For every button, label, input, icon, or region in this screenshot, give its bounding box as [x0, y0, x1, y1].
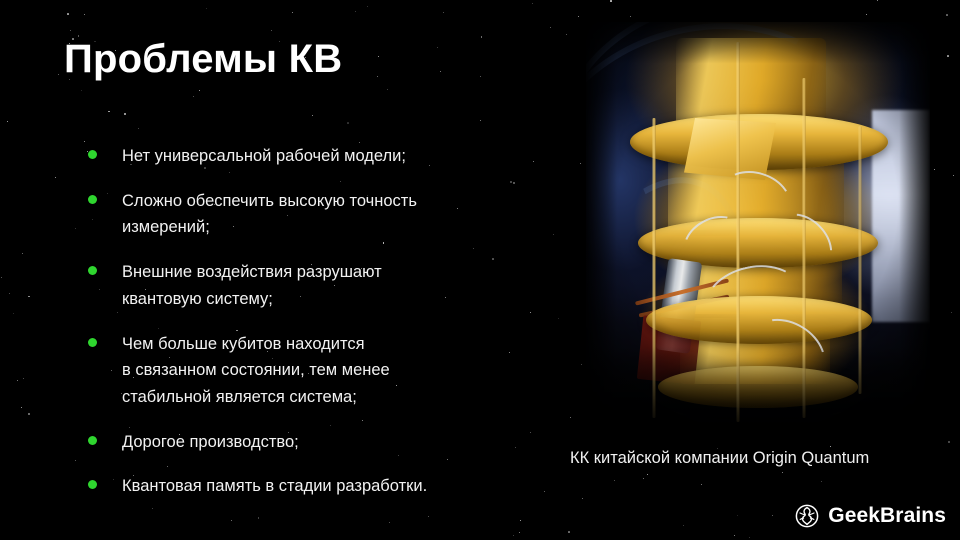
star-dot [28, 296, 30, 298]
star-dot [23, 378, 24, 379]
star-dot [440, 71, 441, 72]
list-item: Внешние воздействия разрушают квантовую … [88, 259, 518, 312]
star-dot [951, 312, 952, 313]
star-dot [75, 228, 76, 229]
star-dot [199, 90, 200, 91]
star-dot [544, 491, 545, 492]
star-dot [582, 498, 583, 499]
star-dot [530, 312, 531, 313]
star-dot [948, 441, 950, 443]
star-dot [206, 8, 207, 9]
star-dot [782, 472, 783, 473]
bullet-dot-icon [88, 480, 97, 489]
list-item: Квантовая память в стадии разработки. [88, 473, 518, 500]
star-dot [312, 115, 314, 117]
star-dot [292, 12, 293, 13]
star-dot [67, 13, 69, 15]
bullet-list: Нет универсальной рабочей модели; Сложно… [88, 143, 518, 518]
star-dot [7, 121, 8, 122]
star-dot [772, 515, 773, 516]
list-item: Чем больше кубитов находится в связанном… [88, 331, 518, 411]
photo-caption: КК китайской компании Origin Quantum [570, 449, 869, 468]
star-dot [84, 141, 85, 142]
star-dot [481, 36, 483, 38]
geekbrains-logo: GeekBrains [795, 504, 946, 528]
star-dot [701, 484, 702, 485]
star-dot [566, 34, 567, 35]
star-dot [734, 535, 735, 536]
star-dot [367, 6, 368, 7]
bullet-text: Внешние воздействия разрушают квантовую … [122, 259, 382, 312]
star-dot [231, 520, 232, 521]
star-dot [520, 520, 521, 521]
star-dot [9, 293, 10, 294]
star-dot [387, 89, 389, 91]
star-dot [138, 128, 139, 129]
star-dot [84, 14, 85, 15]
star-dot [568, 531, 570, 533]
bullet-text: Квантовая память в стадии разработки. [122, 473, 427, 500]
photo-vignette [586, 22, 930, 438]
star-dot [877, 0, 878, 1]
star-dot [581, 364, 582, 365]
star-dot [610, 0, 612, 2]
star-dot [443, 12, 444, 13]
bullet-dot-icon [88, 338, 97, 347]
star-dot [347, 122, 349, 124]
list-item: Дорогое производство; [88, 429, 518, 456]
star-dot [614, 480, 615, 481]
bullet-text: Сложно обеспечить высокую точность измер… [122, 188, 417, 241]
slide-canvas: Проблемы КВ Нет универсальной рабочей мо… [0, 0, 960, 540]
star-dot [946, 14, 948, 16]
star-dot [1, 277, 2, 278]
star-dot [21, 407, 22, 408]
star-dot [108, 111, 110, 113]
star-dot [550, 27, 551, 28]
star-dot [532, 3, 533, 4]
star-dot [934, 169, 935, 170]
list-item: Сложно обеспечить высокую точность измер… [88, 188, 518, 241]
star-dot [81, 90, 82, 91]
list-item: Нет универсальной рабочей модели; [88, 143, 518, 170]
star-dot [271, 30, 272, 31]
bullet-dot-icon [88, 436, 97, 445]
geekbrains-brain-icon [795, 504, 819, 528]
star-dot [480, 120, 481, 121]
quantum-computer-photo [586, 22, 930, 438]
logo-text: GeekBrains [828, 504, 946, 528]
star-dot [953, 175, 954, 176]
star-dot [683, 525, 684, 526]
star-dot [519, 532, 520, 533]
star-dot [75, 460, 76, 461]
star-dot [866, 14, 867, 15]
star-dot [378, 56, 379, 57]
star-dot [647, 474, 648, 475]
star-dot [28, 413, 30, 415]
star-dot [737, 515, 738, 516]
star-dot [17, 380, 18, 381]
star-dot [630, 16, 631, 17]
star-dot [58, 74, 60, 76]
star-dot [480, 76, 481, 77]
star-dot [22, 253, 23, 254]
star-dot [13, 313, 14, 314]
bullet-dot-icon [88, 266, 97, 275]
star-dot [124, 113, 126, 115]
bullet-text: Дорогое производство; [122, 429, 299, 456]
star-dot [389, 522, 390, 523]
star-dot [55, 177, 56, 178]
star-dot [580, 163, 581, 164]
star-dot [437, 47, 438, 48]
bullet-dot-icon [88, 195, 97, 204]
slide-title: Проблемы КВ [64, 36, 342, 82]
bullet-dot-icon [88, 150, 97, 159]
star-dot [513, 535, 514, 536]
star-dot [578, 16, 579, 17]
star-dot [749, 537, 750, 538]
star-dot [70, 30, 71, 31]
bullet-text: Нет универсальной рабочей модели; [122, 143, 406, 170]
star-dot [643, 478, 644, 479]
star-dot [570, 417, 571, 418]
star-dot [821, 481, 822, 482]
star-dot [830, 446, 831, 447]
star-dot [947, 55, 949, 57]
star-dot [530, 432, 531, 433]
star-dot [533, 161, 534, 162]
star-dot [553, 234, 554, 235]
star-dot [193, 96, 194, 97]
bullet-text: Чем больше кубитов находится в связанном… [122, 331, 390, 411]
star-dot [355, 11, 356, 12]
star-dot [377, 76, 378, 77]
star-dot [558, 318, 559, 319]
